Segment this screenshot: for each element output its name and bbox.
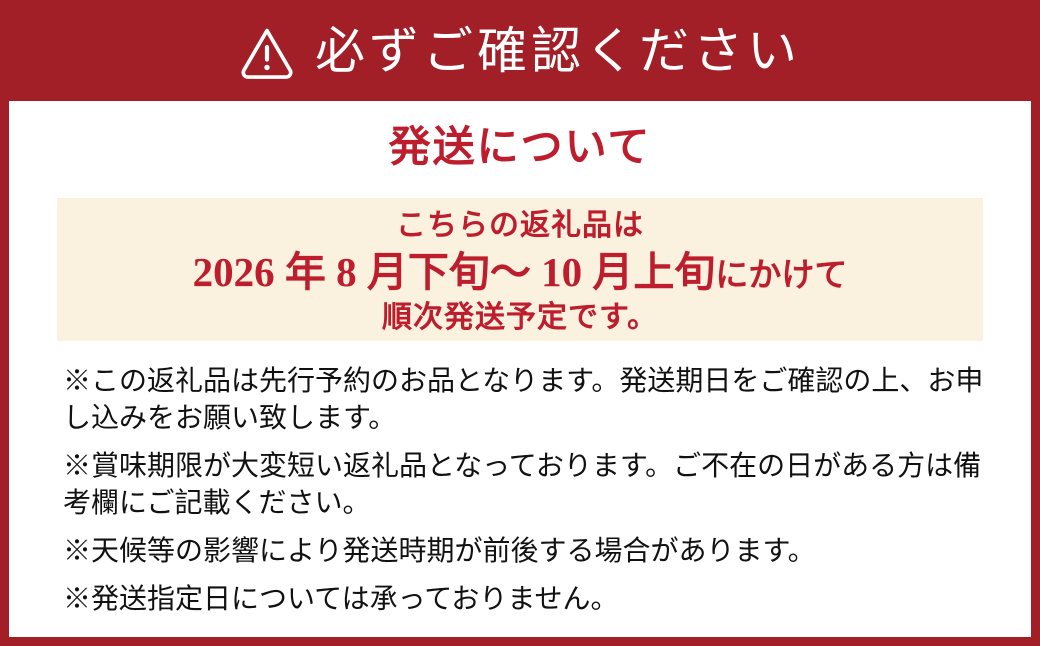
notes-list: ※この返礼品は先行予約のお品となります。発送期日をご確認の上、お申し込みをお願い… [63, 364, 999, 630]
highlight-line-3: 順次発送予定です。 [57, 299, 983, 337]
section-title: 発送について [9, 122, 1031, 175]
note-item: ※賞味期限が大変短い返礼品となっております。ご不在の日がある方は備考欄にご記載く… [63, 449, 999, 523]
shipping-period-range: 2026 年 8 月下旬〜 10 月上旬 [193, 249, 716, 295]
note-item: ※この返礼品は先行予約のお品となります。発送期日をご確認の上、お申し込みをお願い… [63, 364, 999, 438]
shipping-notice-card: 必ずご確認ください 発送について こちらの返礼品は 2026 年 8 月下旬〜 … [0, 0, 1040, 646]
note-item: ※発送指定日については承っておりません。 [63, 582, 999, 619]
highlight-line-1: こちらの返礼品は [57, 198, 983, 245]
shipping-period-highlight: こちらの返礼品は 2026 年 8 月下旬〜 10 月上旬にかけて 順次発送予定… [57, 198, 983, 341]
highlight-line-2: 2026 年 8 月下旬〜 10 月上旬にかけて [57, 247, 983, 298]
banner-title: 必ずご確認ください [311, 26, 801, 76]
shipping-period-suffix: にかけて [715, 258, 847, 294]
note-item: ※天候等の影響により発送時期が前後する場合があります。 [63, 534, 999, 571]
warning-triangle-icon [239, 24, 295, 80]
notice-banner: 必ずご確認ください [0, 0, 1040, 101]
